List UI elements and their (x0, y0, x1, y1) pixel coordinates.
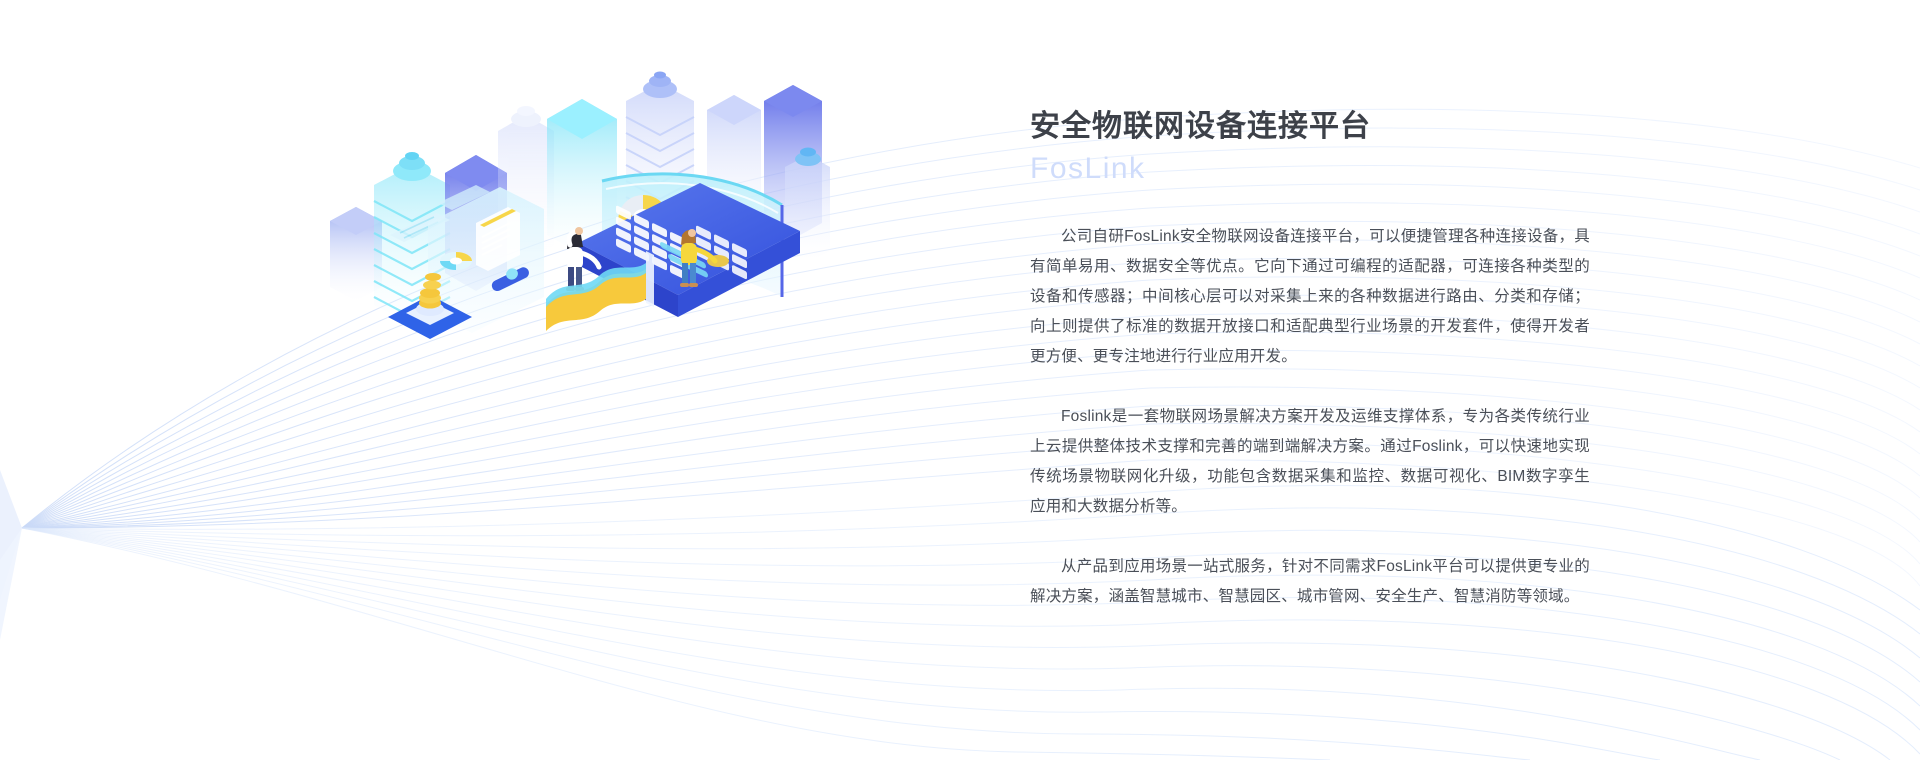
isometric-illustration (330, 55, 830, 345)
content-column: 安全物联网设备连接平台 FosLink 公司自研FosLink安全物联网设备连接… (1030, 106, 1590, 612)
paragraph-spacer-2 (1030, 522, 1590, 552)
body-paragraph-1: 公司自研FosLink安全物联网设备连接平台，可以便捷管理各种连接设备，具有简单… (1030, 222, 1590, 372)
paragraph-spacer-1 (1030, 372, 1590, 402)
background-wave-decoration (0, 0, 1920, 760)
page-subtitle: FosLink (1030, 148, 1590, 190)
body-paragraph-3: 从产品到应用场景一站式服务，针对不同需求FosLink平台可以提供更专业的解决方… (1030, 552, 1590, 612)
page-title: 安全物联网设备连接平台 (1030, 106, 1590, 148)
donut-chart-small (440, 252, 472, 270)
body-paragraph-2: Foslink是一套物联网场景解决方案开发及运维支撑体系，专为各类传统行业上云提… (1030, 402, 1590, 522)
title-body-spacer (1030, 192, 1590, 222)
page-root: 安全物联网设备连接平台 FosLink 公司自研FosLink安全物联网设备连接… (0, 0, 1920, 760)
